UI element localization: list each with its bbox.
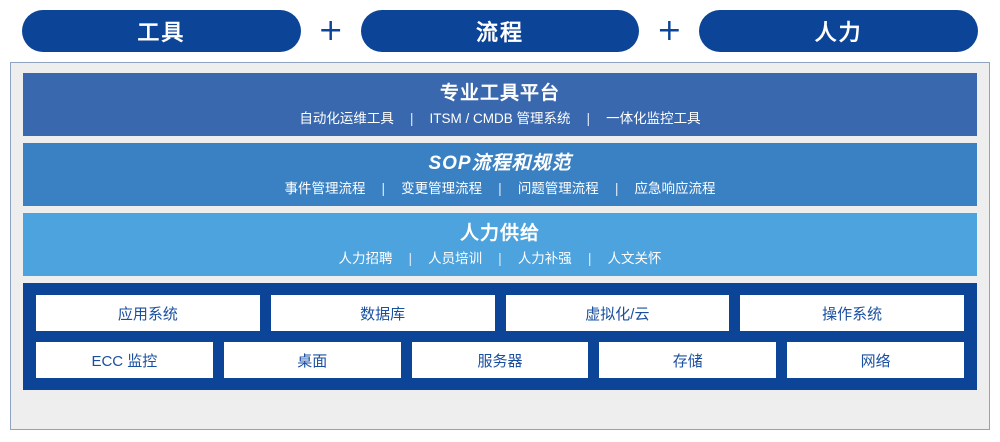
- infrastructure-chip[interactable]: ECC 监控: [36, 342, 213, 378]
- band-professional-tool-platform[interactable]: 专业工具平台 自动化运维工具|ITSM / CMDB 管理系统|一体化监控工具: [23, 73, 977, 136]
- diagram-frame: 专业工具平台 自动化运维工具|ITSM / CMDB 管理系统|一体化监控工具 …: [10, 62, 990, 430]
- infrastructure-chip[interactable]: 应用系统: [36, 295, 260, 331]
- plus-icon-2: +: [639, 16, 699, 46]
- infrastructure-chip[interactable]: 网络: [787, 342, 964, 378]
- infrastructure-chip[interactable]: 桌面: [224, 342, 401, 378]
- pill-tools[interactable]: 工具: [22, 10, 301, 52]
- band-1-title: SOP流程和规范: [428, 152, 571, 176]
- infrastructure-chip[interactable]: 数据库: [271, 295, 495, 331]
- item-separator: |: [586, 250, 594, 267]
- infrastructure-row-2: ECC 监控桌面服务器存储网络: [36, 342, 964, 378]
- band-item[interactable]: 应急响应流程: [620, 181, 729, 197]
- item-separator: |: [407, 250, 415, 267]
- pill-process[interactable]: 流程: [361, 10, 640, 52]
- item-separator: |: [496, 250, 504, 267]
- infrastructure-chip[interactable]: 存储: [599, 342, 776, 378]
- band-item[interactable]: 人文关怀: [593, 251, 675, 267]
- band-1-items: 事件管理流程|变更管理流程|问题管理流程|应急响应流程: [271, 180, 730, 197]
- band-item[interactable]: 人力补强: [504, 251, 586, 267]
- band-2-items: 人力招聘|人员培训|人力补强|人文关怀: [325, 250, 676, 267]
- infrastructure-chip[interactable]: 虚拟化/云: [506, 295, 730, 331]
- infrastructure-chip[interactable]: 操作系统: [740, 295, 964, 331]
- band-item[interactable]: 问题管理流程: [504, 181, 613, 197]
- band-item[interactable]: 人员培训: [414, 251, 496, 267]
- item-separator: |: [496, 180, 504, 197]
- pill-manpower[interactable]: 人力: [699, 10, 978, 52]
- infrastructure-box: 应用系统数据库虚拟化/云操作系统 ECC 监控桌面服务器存储网络: [23, 283, 977, 390]
- infrastructure-chip[interactable]: 服务器: [412, 342, 589, 378]
- band-item[interactable]: ITSM / CMDB 管理系统: [416, 111, 585, 127]
- item-separator: |: [613, 180, 621, 197]
- plus-icon-1: +: [301, 16, 361, 46]
- header-pill-row: 工具 + 流程 + 人力: [0, 0, 1000, 62]
- infrastructure-row-1: 应用系统数据库虚拟化/云操作系统: [36, 295, 964, 331]
- item-separator: |: [408, 110, 416, 127]
- band-manpower-supply[interactable]: 人力供给 人力招聘|人员培训|人力补强|人文关怀: [23, 213, 977, 276]
- band-item[interactable]: 变更管理流程: [387, 181, 496, 197]
- pill-tools-label: 工具: [137, 15, 185, 47]
- item-separator: |: [380, 180, 388, 197]
- band-0-items: 自动化运维工具|ITSM / CMDB 管理系统|一体化监控工具: [285, 110, 714, 127]
- band-item[interactable]: 一体化监控工具: [592, 111, 715, 127]
- band-sop-process-standards[interactable]: SOP流程和规范 事件管理流程|变更管理流程|问题管理流程|应急响应流程: [23, 143, 977, 206]
- band-item[interactable]: 事件管理流程: [271, 181, 380, 197]
- pill-process-label: 流程: [476, 15, 524, 47]
- band-item[interactable]: 自动化运维工具: [285, 111, 408, 127]
- band-0-title: 专业工具平台: [440, 82, 560, 106]
- band-2-title: 人力供给: [460, 222, 540, 246]
- pill-manpower-label: 人力: [815, 15, 863, 47]
- item-separator: |: [585, 110, 593, 127]
- band-item[interactable]: 人力招聘: [325, 251, 407, 267]
